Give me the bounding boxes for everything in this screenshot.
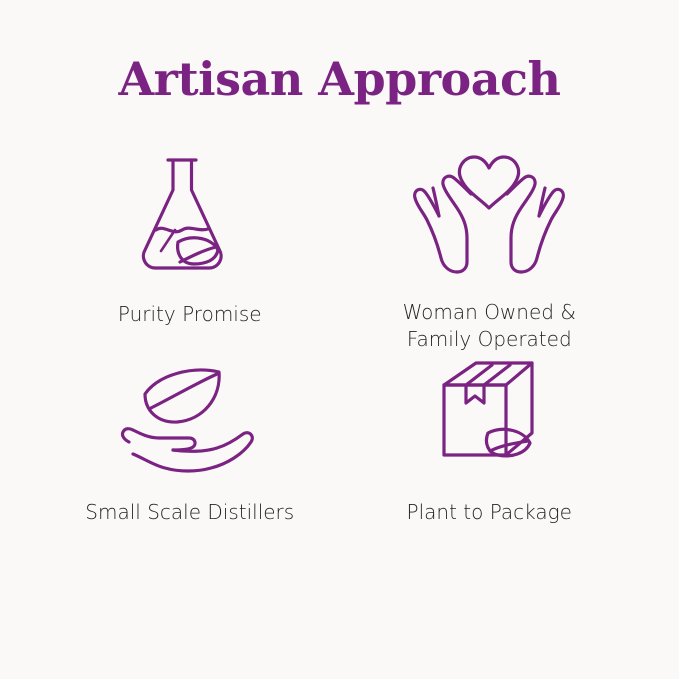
feature-woman-owned: Woman Owned & Family Operated bbox=[340, 141, 640, 353]
feature-caption: Small Scale Distillers bbox=[85, 499, 294, 526]
hands-heart-icon-wrap bbox=[409, 141, 569, 291]
hands-heart-icon bbox=[409, 146, 569, 286]
box-leaf-icon bbox=[414, 355, 564, 480]
feature-caption: Plant to Package bbox=[407, 499, 572, 526]
hand-leaf-icon bbox=[115, 358, 265, 478]
page-title: Artisan Approach bbox=[0, 0, 679, 105]
feature-plant-to-package: Plant to Package bbox=[340, 353, 640, 565]
flask-leaf-icon bbox=[120, 146, 260, 286]
artisan-approach-panel: Artisan Approach Purity Pr bbox=[0, 0, 679, 679]
feature-purity-promise: Purity Promise bbox=[40, 141, 340, 353]
feature-caption: Purity Promise bbox=[118, 301, 262, 328]
flask-leaf-icon-wrap bbox=[120, 141, 260, 291]
hand-leaf-icon-wrap bbox=[115, 353, 265, 483]
features-grid: Purity Promise Woman Owned & Family bbox=[0, 141, 679, 565]
feature-small-scale-distillers: Small Scale Distillers bbox=[40, 353, 340, 565]
box-leaf-icon-wrap bbox=[414, 353, 564, 483]
feature-caption: Woman Owned & Family Operated bbox=[403, 299, 576, 353]
